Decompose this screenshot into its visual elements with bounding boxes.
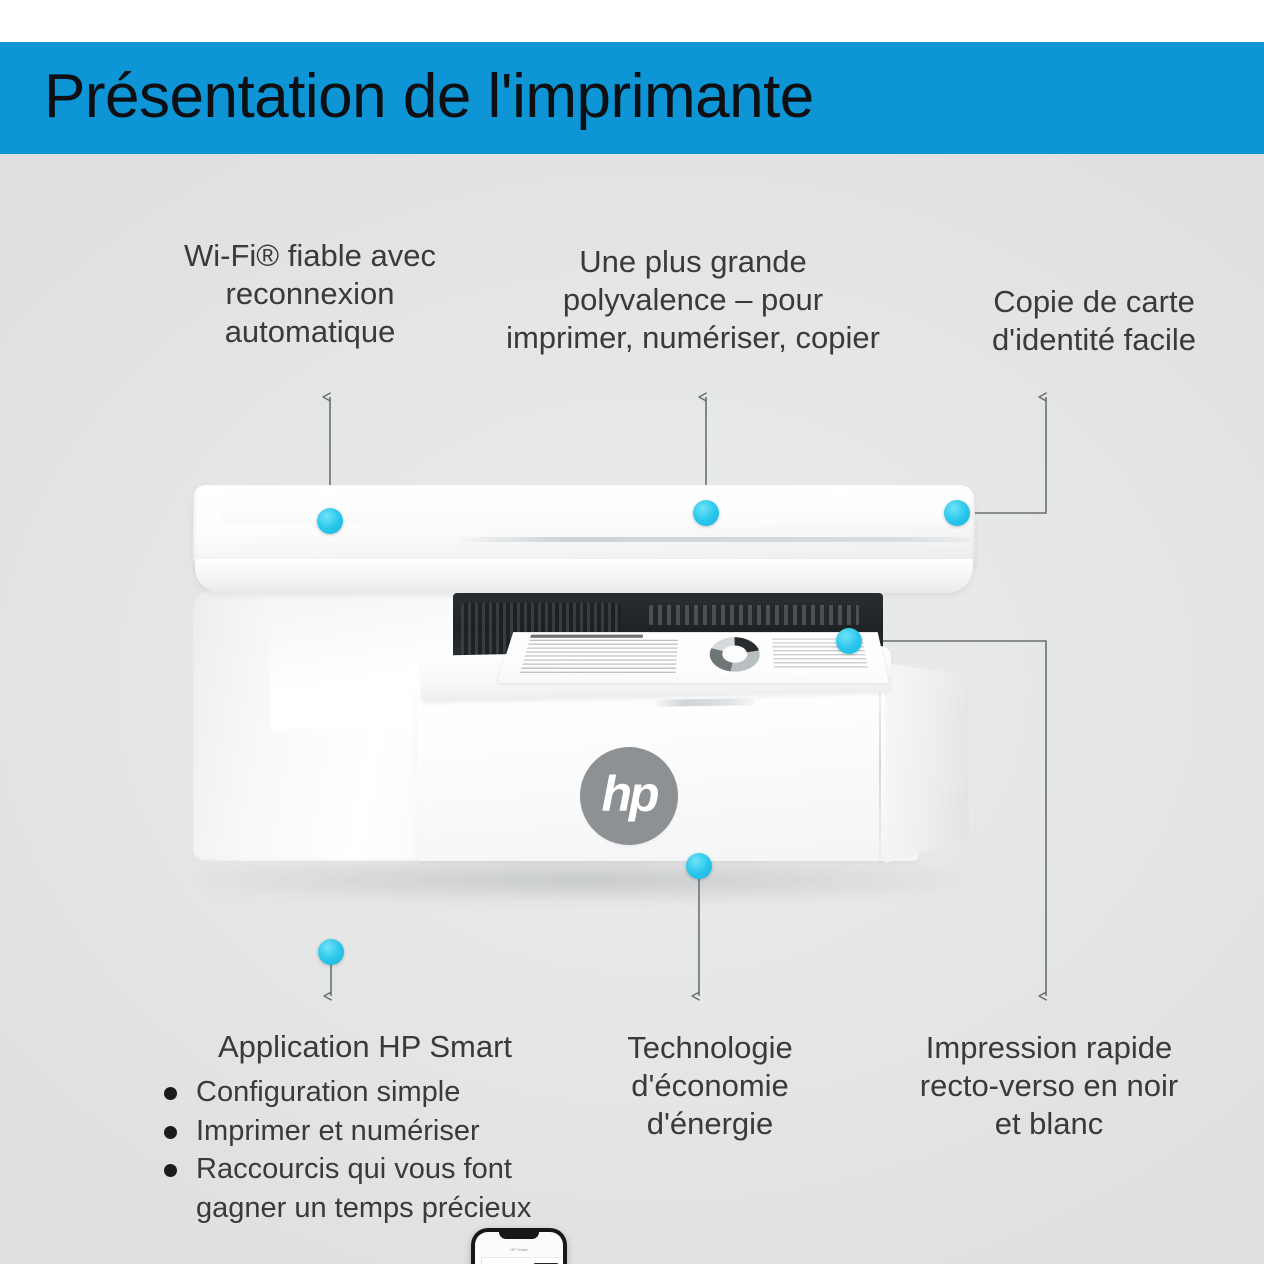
list-item: Raccourcis qui vous font [160, 1150, 580, 1189]
phone-screen: HP Smart 1 / 3 1 copie Imprimer [475, 1232, 563, 1264]
callout-dot-idcard[interactable] [944, 500, 970, 526]
list-item: Imprimer et numériser [160, 1112, 580, 1151]
printer-shadow [205, 857, 965, 903]
hpsmart-title: Application HP Smart [150, 1028, 580, 1065]
callout-dot-duplex[interactable] [836, 628, 862, 654]
callout-label-versatility: Une plus grande polyvalence – pour impri… [462, 243, 924, 356]
list-item-continuation: gagner un temps précieux [160, 1189, 580, 1228]
printed-doc-text [519, 640, 678, 676]
printer-overview-infographic: Présentation de l'imprimante [0, 0, 1264, 1264]
callout-dot-energy[interactable] [686, 853, 712, 879]
callout-label-hpsmart: Application HP Smart Configuration simpl… [150, 1028, 580, 1227]
printer-right-side-panel [885, 663, 969, 863]
printed-document-sheet [497, 632, 889, 683]
phone-app-bar: HP Smart [475, 1243, 563, 1255]
printer-side-edge [879, 667, 881, 863]
hp-logo: hp [580, 747, 678, 845]
phone-document-preview [482, 1258, 563, 1264]
callout-label-idcard: Copie de carte d'identité facile [944, 283, 1244, 359]
callout-dot-versatility[interactable] [693, 500, 719, 526]
printer-lid-seam [461, 537, 971, 542]
printer-roller-comb [649, 605, 859, 625]
callout-dot-wifi[interactable] [317, 508, 343, 534]
printed-doc-heading [530, 635, 643, 638]
hpsmart-feature-list: Configuration simple Imprimer et numéris… [150, 1073, 580, 1227]
callout-dot-hpsmart[interactable] [318, 939, 344, 965]
printer-illustration: hp HP Smart 1 / 3 1 copie Imprimer [185, 485, 975, 915]
header-banner: Présentation de l'imprimante [0, 42, 1264, 154]
list-item: Configuration simple [160, 1073, 580, 1112]
callout-label-energy: Technologie d'économie d'énergie [588, 1029, 832, 1142]
callout-label-duplex: Impression rapide recto-verso en noir et… [876, 1029, 1222, 1142]
page-title: Présentation de l'imprimante [44, 66, 814, 128]
phone-notch [499, 1232, 539, 1239]
callout-label-wifi: Wi-Fi® fiable avec reconnexion automatiq… [150, 237, 470, 350]
hp-logo-text: hp [601, 769, 656, 819]
printer-lid-front-edge [195, 559, 973, 593]
printed-doc-pie-chart [709, 637, 760, 671]
smartphone-hp-smart-app: HP Smart 1 / 3 1 copie Imprimer [471, 1228, 567, 1264]
